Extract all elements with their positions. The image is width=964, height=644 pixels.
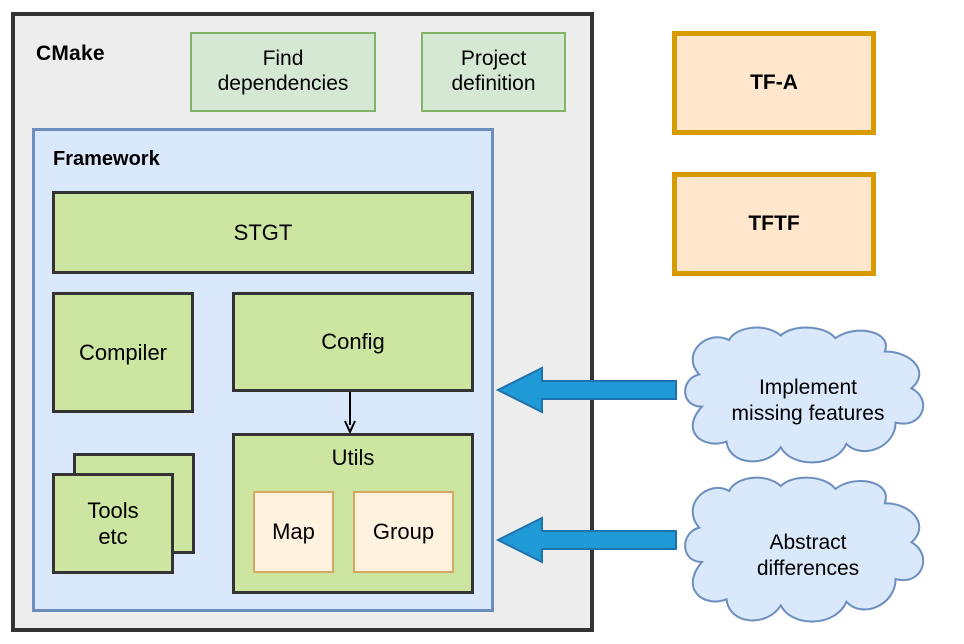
- cloud-shape-icon: [672, 476, 944, 636]
- tools-box[interactable]: Tools etc: [52, 473, 174, 574]
- compiler-box[interactable]: Compiler: [52, 292, 194, 413]
- tools-label-line2: etc: [98, 524, 127, 550]
- utils-label: Utils: [232, 445, 474, 471]
- stgt-box[interactable]: STGT: [52, 191, 474, 274]
- tftf-label: TFTF: [748, 212, 799, 237]
- tftf-box[interactable]: TFTF: [672, 172, 876, 276]
- tfa-label: TF-A: [750, 71, 798, 96]
- project-definition-label-line2: definition: [451, 72, 535, 97]
- implement-missing-features-cloud[interactable]: Implement missing features: [672, 326, 944, 476]
- project-definition-label: Project definition: [451, 47, 535, 97]
- tools-label-line1: Tools: [87, 498, 138, 524]
- diagram-canvas: CMake Find dependencies Project definiti…: [0, 0, 964, 644]
- project-definition-label-line1: Project: [451, 47, 535, 72]
- tfa-box[interactable]: TF-A: [672, 31, 876, 135]
- abstract-differences-arrow-icon: [498, 517, 676, 563]
- find-dependencies-label: Find dependencies: [218, 47, 349, 97]
- find-dependencies-box[interactable]: Find dependencies: [190, 32, 376, 112]
- find-dependencies-label-line1: Find: [218, 47, 349, 72]
- utils-group-box[interactable]: Group: [353, 491, 454, 573]
- config-label: Config: [321, 329, 385, 355]
- find-dependencies-label-line2: dependencies: [218, 72, 349, 97]
- config-to-utils-arrow-icon: [344, 392, 356, 434]
- project-definition-box[interactable]: Project definition: [421, 32, 566, 112]
- compiler-label: Compiler: [79, 340, 167, 366]
- utils-map-box[interactable]: Map: [253, 491, 334, 573]
- cmake-title: CMake: [36, 42, 105, 66]
- config-box[interactable]: Config: [232, 292, 474, 392]
- stgt-label: STGT: [234, 220, 293, 246]
- implement-features-arrow-icon: [498, 367, 676, 413]
- cloud-shape-icon: [672, 326, 944, 476]
- abstract-differences-cloud[interactable]: Abstract differences: [672, 476, 944, 636]
- framework-title: Framework: [53, 148, 160, 171]
- utils-group-label: Group: [373, 519, 434, 545]
- utils-map-label: Map: [272, 519, 315, 545]
